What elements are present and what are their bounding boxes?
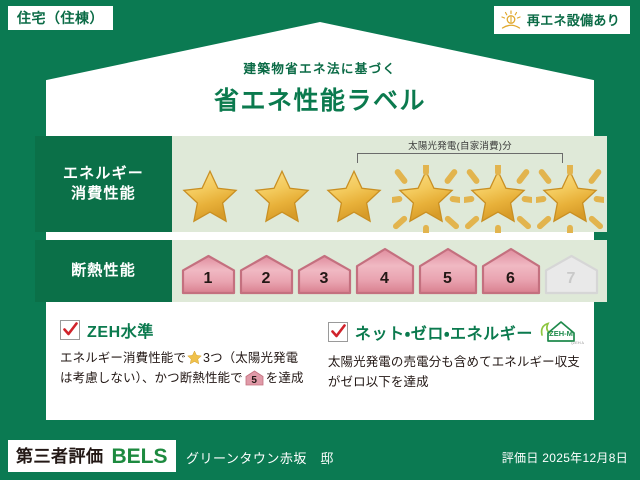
energy-label-line-1: エネルギー [63,164,144,184]
star-icon [325,168,383,224]
energy-star-rating [172,164,607,228]
inline-star-icon [187,350,202,365]
evaluation-date-label: 評価日 [502,451,539,465]
star-filled [176,165,244,227]
solar-bracket-line [357,153,563,163]
building-type-tag: 住宅（住棟） [8,6,113,30]
third-party-eval-label: 第三者評価 [16,448,104,465]
claim-zeh-standard: ZEH水準 エネルギー消費性能で3つ（太陽光発電は考慮しない）、かつ断熱性能で5… [46,318,316,416]
claim-nze-header: ネット・ゼロ・エネルギー ZEH-M (ZEH-M) [328,318,584,346]
claim-zeh-text-3: を達成 [266,371,304,385]
solar-bracket-caption: 太陽光発電(自家消費)分 [354,138,566,152]
svg-text:ZEH-M: ZEH-M [549,329,573,338]
label-footer: 第三者評価 BELS グリーンタウン赤坂 邸 評価日 2025年12月8日 [0,432,640,480]
star-icon [397,168,455,224]
insulation-grade-active: 6 [481,247,541,295]
checkbox-zeh [60,320,80,340]
label-title-block: 建築物省エネ法に基づく 省エネ性能ラベル [0,58,640,117]
star-filled-solar [392,165,460,227]
energy-performance-row: エネルギー 消費性能 太陽光発電(自家消費)分 [35,136,607,232]
claim-nze-body: 太陽光発電の売電分も含めてエネルギー収支がゼロ以下を達成 [328,353,584,393]
insulation-performance-row-label: 断熱性能 [35,240,172,302]
star-filled-solar [464,165,532,227]
energy-label-line-2: 消費性能 [63,184,144,204]
evaluation-date: 評価日 2025年12月8日 [502,449,628,466]
evaluation-date-value: 2025年12月8日 [542,451,628,465]
house-badge-number: 6 [481,270,541,288]
property-name: グリーンタウン赤坂 邸 [186,448,334,467]
insulation-grade-active: 4 [355,247,415,295]
checkbox-net-zero-energy [328,322,348,342]
insulation-label-text: 断熱性能 [71,261,136,281]
bels-third-party-badge: 第三者評価 BELS [8,440,176,472]
claim-zeh-star-count: 3つ [203,351,223,365]
solar-self-consumption-bracket: 太陽光発電(自家消費)分 [354,138,566,164]
star-icon [541,168,599,224]
building-type-tag-text: 住宅（住棟） [17,10,104,26]
renewable-equipment-badge: 再エネ設備あり [494,6,630,34]
house-badge-number: 7 [544,270,599,288]
inline-house-grade-number: 5 [245,376,264,386]
label-title-sub: 建築物省エネ法に基づく [0,58,640,77]
insulation-performance-row: 断熱性能 1 2 3 [35,240,607,302]
insulation-grade-active: 5 [418,247,478,295]
star-icon [253,168,311,224]
achievement-claims: ZEH水準 エネルギー消費性能で3つ（太陽光発電は考慮しない）、かつ断熱性能で5… [46,318,594,416]
claim-zeh-header: ZEH水準 [60,318,306,342]
claim-zeh-text-1: エネルギー消費性能で [60,351,186,365]
insulation-grade-active: 2 [239,254,294,295]
insulation-grade-active: 3 [297,254,352,295]
svg-text:(ZEH-M): (ZEH-M) [571,340,584,345]
insulation-grade-inactive: 7 [544,254,599,295]
star-filled [248,165,316,227]
insulation-grade-scale: 1 2 3 4 [172,240,607,302]
star-filled [320,165,388,227]
zeh-m-logo-icon: ZEH-M (ZEH-M) [538,318,584,346]
insulation-grade-active: 1 [181,254,236,295]
house-badge-number: 5 [418,270,478,288]
house-badge-number: 2 [239,270,294,288]
energy-performance-row-label: エネルギー 消費性能 [35,136,172,232]
energy-performance-row-body: 太陽光発電(自家消費)分 [172,136,607,232]
claim-nze-title: ネット・ゼロ・エネルギー [355,320,533,344]
claim-net-zero-energy: ネット・ゼロ・エネルギー ZEH-M (ZEH-M) 太陽光発電の売電分も含めて… [316,318,594,416]
house-badge-number: 4 [355,270,415,288]
label-title-main: 省エネ性能ラベル [0,81,640,117]
house-badge-number: 1 [181,270,236,288]
insulation-performance-row-body: 1 2 3 4 [172,240,607,302]
inline-house-grade-badge: 5 [245,370,264,386]
renewable-equipment-badge-text: 再エネ設備あり [527,14,620,27]
house-badge-number: 3 [297,270,352,288]
star-icon [181,168,239,224]
sun-solar-icon [500,10,522,30]
claim-zeh-body: エネルギー消費性能で3つ（太陽光発電は考慮しない）、かつ断熱性能で5を達成 [60,349,306,389]
bels-logo-text: BELS [112,446,168,467]
star-icon [469,168,527,224]
claim-zeh-title: ZEH水準 [87,318,154,342]
star-filled-solar [536,165,604,227]
energy-performance-label: 住宅（住棟） 再エネ設備あり 建築物省エネ法に基づく 省エネ性能ラベル [0,0,640,480]
